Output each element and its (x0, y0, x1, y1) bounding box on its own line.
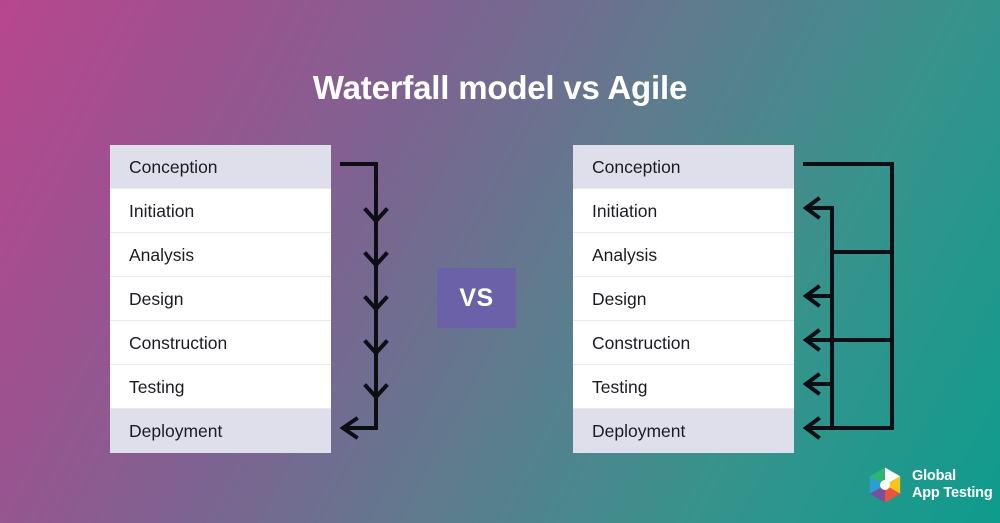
brand-logo-text: Global App Testing (912, 468, 993, 502)
agile-phase-table: Conception Initiation Analysis Design Co… (573, 145, 794, 453)
list-item[interactable]: Deployment (573, 409, 794, 453)
list-item[interactable]: Construction (110, 321, 331, 365)
list-item[interactable]: Design (110, 277, 331, 321)
list-item[interactable]: Design (573, 277, 794, 321)
list-item[interactable]: Initiation (573, 189, 794, 233)
list-item[interactable]: Analysis (110, 233, 331, 277)
brand-logo-line1: Global (912, 468, 993, 485)
list-item[interactable]: Conception (110, 145, 331, 189)
list-item[interactable]: Testing (110, 365, 331, 409)
vs-badge: VS (437, 268, 516, 328)
list-item[interactable]: Construction (573, 321, 794, 365)
waterfall-phase-table: Conception Initiation Analysis Design Co… (110, 145, 331, 453)
brand-logo: Global App Testing (866, 466, 993, 504)
brand-logo-line2: App Testing (912, 485, 993, 502)
list-item[interactable]: Conception (573, 145, 794, 189)
hexagon-pinwheel-icon (866, 466, 904, 504)
infographic-canvas: Waterfall model vs Agile Conception Init… (0, 0, 1000, 523)
list-item[interactable]: Initiation (110, 189, 331, 233)
list-item[interactable]: Deployment (110, 409, 331, 453)
list-item[interactable]: Testing (573, 365, 794, 409)
page-title: Waterfall model vs Agile (0, 64, 1000, 112)
list-item[interactable]: Analysis (573, 233, 794, 277)
